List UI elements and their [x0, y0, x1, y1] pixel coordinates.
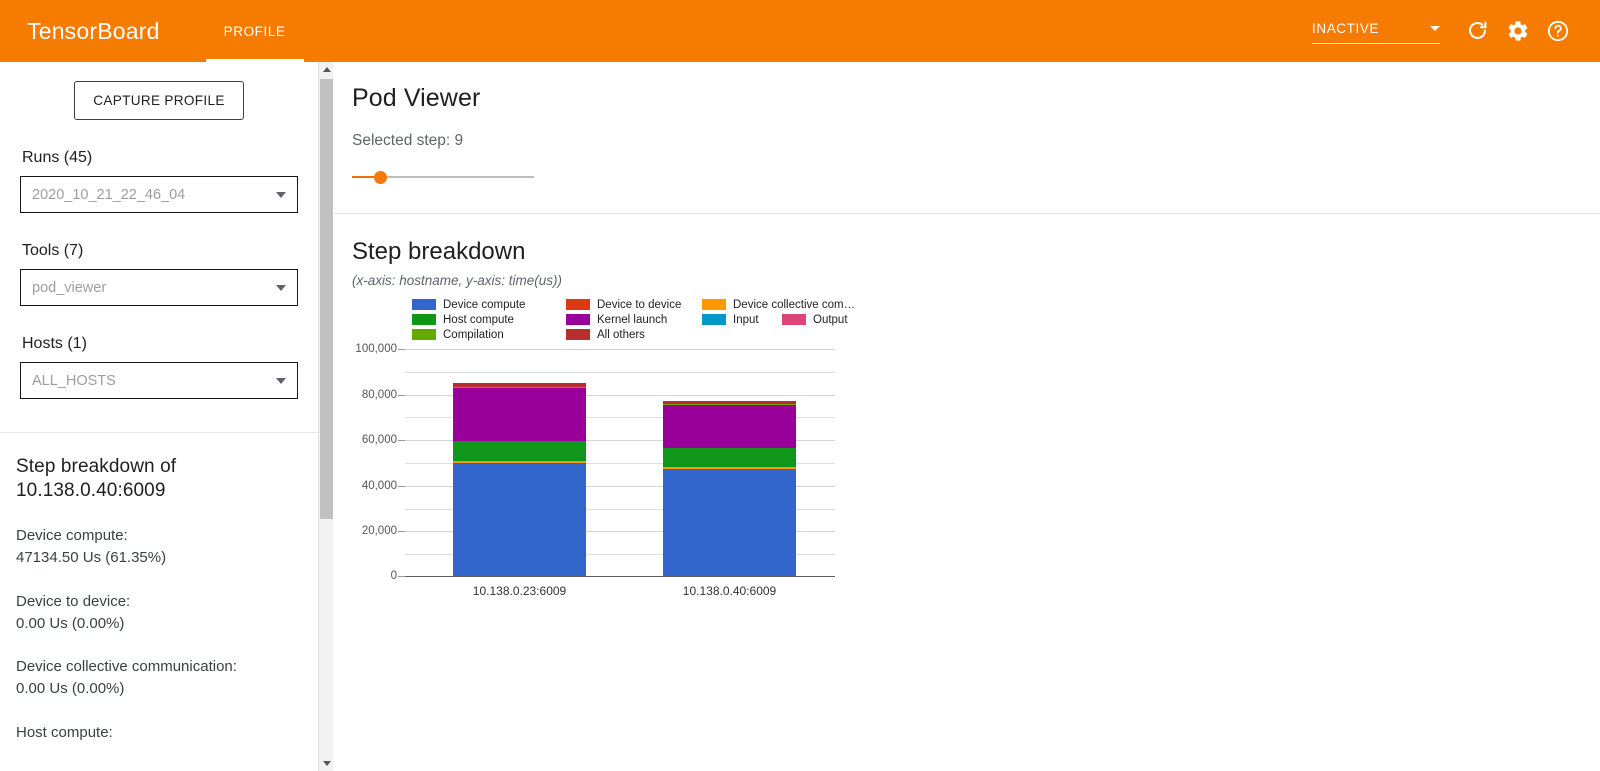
detail-item: Device collective communication: 0.00 Us…	[16, 656, 302, 700]
detail-key: Host compute:	[16, 722, 302, 744]
run-status-value: INACTIVE	[1312, 21, 1379, 36]
legend-swatch-icon	[702, 314, 726, 325]
hosts-select[interactable]: ALL_HOSTS	[20, 362, 298, 399]
scroll-up-button[interactable]	[319, 62, 334, 77]
chart-subtitle: (x-axis: hostname, y-axis: time(us))	[352, 273, 1600, 288]
bar-segment-host-compute[interactable]	[453, 441, 586, 461]
legend-swatch-icon	[782, 314, 806, 325]
bar-segment-device-compute[interactable]	[663, 469, 796, 577]
chart-title: Step breakdown	[352, 238, 1600, 266]
ytick-label: 40,000	[362, 480, 397, 492]
legend-label: Host compute	[443, 314, 514, 326]
legend-item-output[interactable]: Output	[782, 314, 872, 326]
detail-value: 47134.50 Us (61.35%)	[16, 547, 302, 569]
top-app-bar: TensorBoard PROFILE INACTIVE	[0, 0, 1600, 62]
x-axis-line: 0	[405, 576, 835, 577]
tools-label: Tools (7)	[22, 242, 298, 260]
legend-item-device-to-device[interactable]: Device to device	[566, 299, 694, 311]
legend-swatch-icon	[566, 299, 590, 310]
tick-mark	[398, 440, 405, 441]
bar-10-138-0-40-6009[interactable]: 10.138.0.40:6009	[663, 401, 796, 576]
legend-item-kernel-launch[interactable]: Kernel launch	[566, 314, 694, 326]
capture-profile-button[interactable]: CAPTURE PROFILE	[74, 81, 243, 120]
app-brand: TensorBoard	[27, 18, 160, 45]
ytick-label: 80,000	[362, 389, 397, 401]
page-header: Pod Viewer Selected step: 9	[334, 62, 1600, 187]
chevron-down-icon	[323, 761, 331, 766]
detail-item: Device to device: 0.00 Us (0.00%)	[16, 591, 302, 635]
main-content: Pod Viewer Selected step: 9 Step breakdo…	[334, 62, 1600, 771]
refresh-button[interactable]	[1458, 11, 1498, 51]
runs-label: Runs (45)	[22, 149, 298, 167]
sidebar-scrollbar[interactable]	[318, 62, 333, 771]
legend-label: Kernel launch	[597, 314, 667, 326]
legend-swatch-icon	[566, 314, 590, 325]
slider-thumb[interactable]	[374, 171, 387, 184]
detail-key: Device compute:	[16, 525, 302, 547]
left-sidebar: CAPTURE PROFILE Runs (45) 2020_10_21_22_…	[0, 62, 318, 771]
chevron-down-icon	[276, 378, 286, 384]
step-breakdown-chart: Device compute Device to device Device c…	[352, 297, 912, 597]
tick-mark	[398, 395, 405, 396]
detail-key: Device to device:	[16, 591, 302, 613]
detail-item: Host compute:	[16, 722, 302, 744]
legend-row: Compilation All others	[412, 327, 902, 342]
step-breakdown-chart-block: Step breakdown (x-axis: hostname, y-axis…	[334, 214, 1600, 597]
ytick-label: 20,000	[362, 525, 397, 537]
scroll-down-button[interactable]	[319, 756, 334, 771]
legend-item-device-collective-communication[interactable]: Device collective com…	[702, 299, 872, 311]
xtick-label: 10.138.0.40:6009	[683, 584, 776, 598]
bar-10-138-0-23-6009[interactable]: 10.138.0.23:6009	[453, 383, 586, 576]
tools-select-value: pod_viewer	[32, 280, 106, 296]
ytick-label: 0	[391, 570, 397, 582]
legend-label: Output	[813, 314, 848, 326]
runs-select[interactable]: 2020_10_21_22_46_04	[20, 176, 298, 213]
detail-panel-title: Step breakdown of 10.138.0.40:6009	[16, 455, 302, 503]
hosts-select-value: ALL_HOSTS	[32, 373, 116, 389]
step-slider[interactable]	[352, 167, 560, 187]
tick-mark	[398, 486, 405, 487]
chevron-down-icon	[276, 192, 286, 198]
legend-item-host-compute[interactable]: Host compute	[412, 314, 558, 326]
chevron-up-icon	[323, 67, 331, 72]
chart-plot-area: 100,000 80,000 60,000 40,000	[405, 349, 835, 577]
chevron-down-icon	[1430, 26, 1440, 31]
bar-segment-kernel-launch[interactable]	[453, 388, 586, 441]
help-button[interactable]	[1538, 11, 1578, 51]
capture-profile-wrap: CAPTURE PROFILE	[0, 62, 318, 120]
gridline-100000: 100,000	[405, 349, 835, 350]
settings-button[interactable]	[1498, 11, 1538, 51]
tick-mark	[398, 349, 405, 350]
step-breakdown-detail-panel: Step breakdown of 10.138.0.40:6009 Devic…	[0, 433, 318, 744]
xtick-label: 10.138.0.23:6009	[473, 584, 566, 598]
refresh-icon	[1466, 19, 1490, 43]
bar-segment-host-compute[interactable]	[663, 448, 796, 467]
scrollbar-thumb[interactable]	[320, 79, 333, 519]
ytick-label: 60,000	[362, 434, 397, 446]
legend-item-input[interactable]: Input	[702, 314, 774, 326]
legend-swatch-icon	[412, 299, 436, 310]
legend-swatch-icon	[566, 329, 590, 340]
legend-label: Compilation	[443, 329, 504, 341]
legend-label: Device to device	[597, 299, 681, 311]
gear-icon	[1506, 19, 1530, 43]
legend-item-compilation[interactable]: Compilation	[412, 329, 558, 341]
gridline-90000	[405, 372, 835, 373]
tab-profile-label: PROFILE	[224, 24, 286, 39]
chart-legend: Device compute Device to device Device c…	[412, 297, 902, 342]
legend-row: Device compute Device to device Device c…	[412, 297, 902, 312]
legend-item-all-others[interactable]: All others	[566, 329, 694, 341]
topbar-right-controls: INACTIVE	[1312, 11, 1578, 51]
run-status-select[interactable]: INACTIVE	[1312, 19, 1440, 44]
tick-mark	[398, 531, 405, 532]
chevron-down-icon	[276, 285, 286, 291]
detail-value: 0.00 Us (0.00%)	[16, 613, 302, 635]
detail-value: 0.00 Us (0.00%)	[16, 678, 302, 700]
detail-key: Device collective communication:	[16, 656, 302, 678]
legend-swatch-icon	[412, 329, 436, 340]
selected-step-label: Selected step: 9	[352, 132, 1600, 150]
runs-select-value: 2020_10_21_22_46_04	[32, 187, 185, 203]
tools-select[interactable]: pod_viewer	[20, 269, 298, 306]
legend-label: Input	[733, 314, 759, 326]
legend-swatch-icon	[412, 314, 436, 325]
legend-swatch-icon	[702, 299, 726, 310]
detail-item: Device compute: 47134.50 Us (61.35%)	[16, 525, 302, 569]
sidebar-fields: Runs (45) 2020_10_21_22_46_04 Tools (7) …	[0, 149, 318, 399]
legend-row: Host compute Kernel launch Input Output	[412, 312, 902, 327]
tick-mark	[398, 576, 405, 577]
legend-label: All others	[597, 329, 645, 341]
bar-segment-device-compute[interactable]	[453, 463, 586, 576]
ytick-label: 100,000	[355, 343, 397, 355]
help-icon	[1546, 19, 1570, 43]
page-title: Pod Viewer	[352, 84, 1600, 113]
hosts-label: Hosts (1)	[22, 335, 298, 353]
tab-profile[interactable]: PROFILE	[206, 0, 304, 62]
bar-segment-kernel-launch[interactable]	[663, 405, 796, 448]
legend-label: Device collective com…	[733, 299, 855, 311]
legend-label: Device compute	[443, 299, 525, 311]
legend-item-device-compute[interactable]: Device compute	[412, 299, 558, 311]
nav-tabs: PROFILE	[206, 0, 304, 62]
